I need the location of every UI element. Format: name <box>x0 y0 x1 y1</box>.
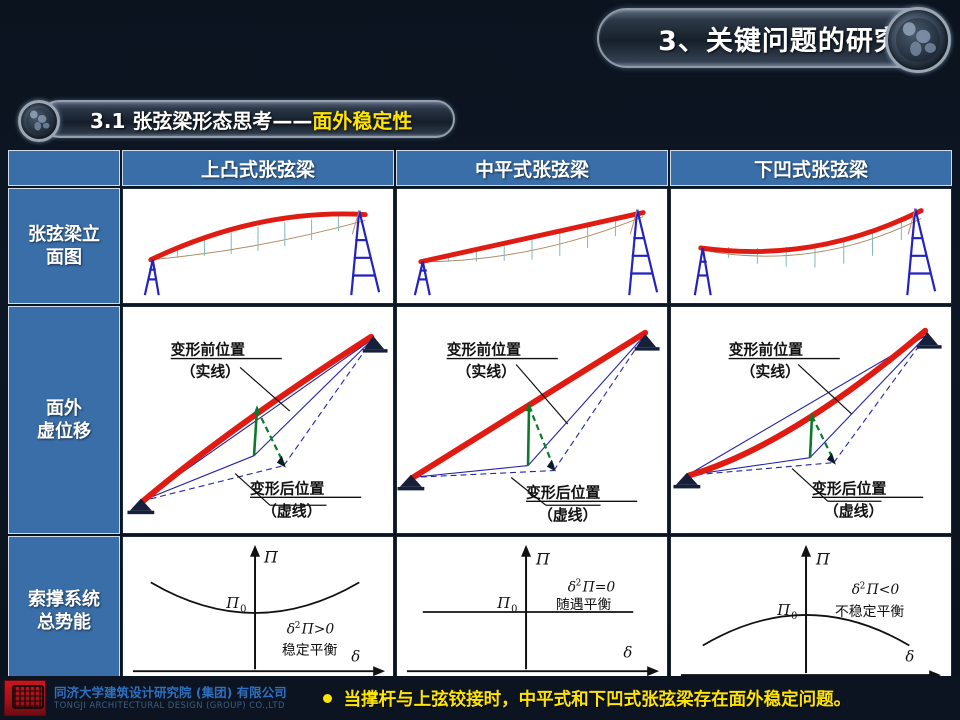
svg-text:变形前位置: 变形前位置 <box>729 341 804 359</box>
outplane-diagram-flat: 变形前位置 （实线） 变形后位置 （虚线） <box>396 306 668 534</box>
company-block: 同济大学建筑设计研究院 (集团) 有限公司 TONGJI ARCHITECTUR… <box>54 685 287 711</box>
energy-chart-neutral: Π Π 0 δ 2 Π=0 随遇平衡 δ <box>396 536 668 686</box>
company-name-cn: 同济大学建筑设计研究院 (集团) 有限公司 <box>54 685 287 701</box>
svg-text:随遇平衡: 随遇平衡 <box>556 597 612 613</box>
svg-text:变形前位置: 变形前位置 <box>171 341 245 359</box>
bullet-dot-icon <box>323 694 332 703</box>
svg-text:Π<0: Π<0 <box>866 582 900 598</box>
row-label-elevation-line2: 面图 <box>28 246 100 269</box>
subtitle-accent-text: 面外稳定性 <box>312 105 412 134</box>
row-label-energy: 索撑系统 总势能 <box>8 536 120 686</box>
svg-text:2: 2 <box>860 581 866 591</box>
slide-root: 3、关键问题的研究 3.1 张弦梁形态思考—— 面外稳定性 上凸式张弦梁 中平式… <box>0 0 960 720</box>
svg-text:稳定平衡: 稳定平衡 <box>282 642 338 658</box>
row-label-energy-line1: 索撑系统 <box>28 588 100 611</box>
svg-text:变形前位置: 变形前位置 <box>447 341 521 359</box>
svg-text:（实线）: （实线） <box>741 362 801 380</box>
svg-text:0: 0 <box>240 604 246 615</box>
column-header-concave: 下凹式张弦梁 <box>670 150 952 186</box>
outplane-diagram-concave: 变形前位置 （实线） 变形后位置 （虚线） <box>670 306 952 534</box>
svg-text:Π: Π <box>535 550 551 569</box>
svg-text:2: 2 <box>295 621 301 631</box>
tongji-logo-icon <box>4 680 46 716</box>
svg-text:Π: Π <box>263 548 279 567</box>
svg-text:（虚线）: （虚线） <box>824 502 884 520</box>
row-label-energy-line2: 总势能 <box>28 611 100 634</box>
svg-text:δ: δ <box>623 644 632 661</box>
row-label-elevation: 张弦梁立 面图 <box>8 188 120 304</box>
column-header-convex: 上凸式张弦梁 <box>122 150 394 186</box>
svg-text:（实线）: （实线） <box>181 362 240 380</box>
svg-text:（虚线）: （虚线） <box>538 506 597 524</box>
svg-text:Π: Π <box>776 602 791 619</box>
energy-chart-unstable: Π Π 0 δ 2 Π<0 不稳定平衡 δ <box>670 536 952 686</box>
row-label-outplane: 面外 虚位移 <box>8 306 120 534</box>
outplane-diagram-convex: 变形前位置 （实线） 变形后位置 （虚线） <box>122 306 394 534</box>
svg-text:δ: δ <box>905 648 914 665</box>
table-corner-cell <box>8 150 120 186</box>
row-label-outplane-line1: 面外 <box>37 397 91 420</box>
svg-text:（虚线）: （虚线） <box>262 502 321 520</box>
subtitle-pill: 3.1 张弦梁形态思考—— 面外稳定性 <box>40 100 455 138</box>
subtitle-main-text: 3.1 张弦梁形态思考—— <box>90 105 312 134</box>
footer-note: 当撑杆与上弦铰接时，中平式和下凹式张弦梁存在面外稳定问题。 <box>323 686 852 711</box>
svg-text:Π=0: Π=0 <box>582 579 616 595</box>
globe-icon <box>18 100 60 142</box>
elevation-diagram-convex <box>122 188 394 304</box>
elevation-diagram-concave <box>670 188 952 304</box>
svg-text:Π: Π <box>815 550 831 569</box>
row-label-elevation-line1: 张弦梁立 <box>28 223 100 246</box>
svg-text:0: 0 <box>511 604 517 615</box>
svg-text:变形后位置: 变形后位置 <box>526 483 600 501</box>
column-header-flat: 中平式张弦梁 <box>396 150 668 186</box>
svg-text:Π>0: Π>0 <box>301 622 335 638</box>
energy-chart-stable: Π Π 0 δ 2 Π>0 稳定平衡 δ <box>122 536 394 686</box>
elevation-diagram-flat <box>396 188 668 304</box>
company-name-en: TONGJI ARCHITECTURAL DESIGN (GROUP) CO.,… <box>54 701 287 712</box>
svg-text:Π: Π <box>225 595 240 612</box>
svg-text:δ: δ <box>351 648 360 665</box>
svg-text:Π: Π <box>496 595 511 612</box>
svg-text:不稳定平衡: 不稳定平衡 <box>835 604 905 620</box>
footer-note-text: 当撑杆与上弦铰接时，中平式和下凹式张弦梁存在面外稳定问题。 <box>344 686 852 711</box>
slide-footer: 同济大学建筑设计研究院 (集团) 有限公司 TONGJI ARCHITECTUR… <box>0 676 960 720</box>
svg-text:2: 2 <box>576 578 582 588</box>
section-subtitle: 3.1 张弦梁形态思考—— 面外稳定性 <box>10 100 455 140</box>
svg-text:0: 0 <box>791 611 797 622</box>
row-label-outplane-line2: 虚位移 <box>37 420 91 443</box>
slide-title-bar: 3、关键问题的研究 <box>597 8 947 68</box>
svg-text:变形后位置: 变形后位置 <box>250 479 324 497</box>
comparison-table: 上凸式张弦梁 中平式张弦梁 下凹式张弦梁 张弦梁立 面图 <box>8 150 954 678</box>
svg-text:（实线）: （实线） <box>457 362 516 380</box>
svg-text:变形后位置: 变形后位置 <box>812 479 887 497</box>
globe-icon <box>885 7 951 73</box>
